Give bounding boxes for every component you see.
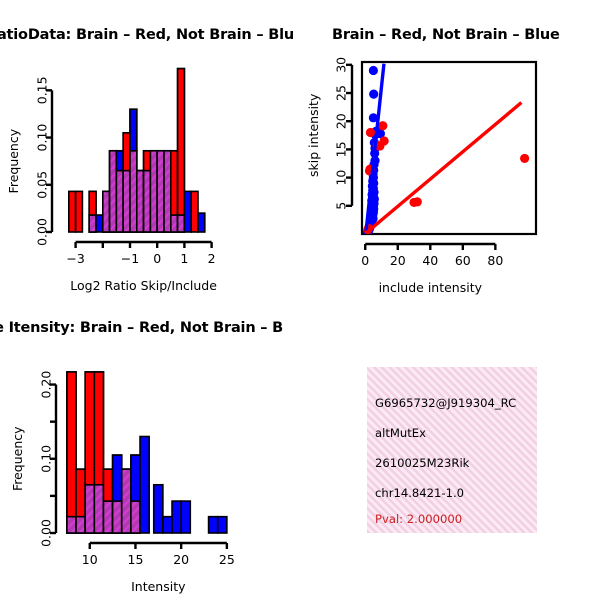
svg-text:−3: −3 xyxy=(66,251,84,266)
svg-text:10: 10 xyxy=(334,170,349,186)
scatter-title: Brain – Red, Not Brain – Blue xyxy=(332,27,560,43)
svg-text:0.15: 0.15 xyxy=(35,76,50,104)
hist-intensity-title: ne Itensity: Brain – Red, Not Brain – B xyxy=(0,320,283,336)
svg-text:40: 40 xyxy=(422,253,438,268)
hist-ratio-panel: 0.000.050.100.15−3−1012Log2 Ratio Skip/I… xyxy=(0,50,300,300)
svg-text:20: 20 xyxy=(334,113,349,129)
svg-text:0.00: 0.00 xyxy=(35,218,50,246)
svg-text:20: 20 xyxy=(173,552,189,567)
hist-intensity-panel: 0.000.100.2010152025IntensityFrequency xyxy=(0,348,300,600)
svg-text:0: 0 xyxy=(153,251,161,266)
svg-text:0.10: 0.10 xyxy=(39,445,54,473)
svg-text:0.00: 0.00 xyxy=(39,519,54,547)
svg-text:15: 15 xyxy=(334,141,349,157)
svg-text:2: 2 xyxy=(208,251,216,266)
info-line-locus: chr14.8421-1.0 xyxy=(375,486,464,500)
svg-text:30: 30 xyxy=(334,57,349,73)
svg-text:Frequency: Frequency xyxy=(6,128,21,193)
svg-text:−1: −1 xyxy=(121,251,139,266)
svg-text:20: 20 xyxy=(390,253,406,268)
svg-text:Log2 Ratio Skip/Include: Log2 Ratio Skip/Include xyxy=(70,278,217,293)
gene-info-box: G6965732@J919304_RC altMutEx 2610025M23R… xyxy=(367,367,537,533)
info-line-probe: G6965732@J919304_RC xyxy=(375,396,516,410)
svg-text:0.10: 0.10 xyxy=(35,124,50,152)
scatter-panel: 51015202530020406080include intensityski… xyxy=(300,50,600,300)
svg-text:80: 80 xyxy=(487,253,503,268)
info-line-gene: 2610025M23Rik xyxy=(375,456,469,470)
svg-text:5: 5 xyxy=(334,202,349,210)
svg-text:25: 25 xyxy=(219,552,235,567)
svg-text:Frequency: Frequency xyxy=(10,426,25,491)
info-line-event: altMutEx xyxy=(375,426,426,440)
svg-text:10: 10 xyxy=(82,552,98,567)
svg-text:60: 60 xyxy=(455,253,471,268)
svg-text:0.20: 0.20 xyxy=(39,371,54,399)
info-line-pval: Pval: 2.000000 xyxy=(375,512,462,526)
svg-text:0: 0 xyxy=(361,253,369,268)
svg-text:1: 1 xyxy=(180,251,188,266)
svg-text:25: 25 xyxy=(334,85,349,101)
svg-text:include intensity: include intensity xyxy=(379,280,483,295)
hist-ratio-title: RatioData: Brain – Red, Not Brain – Blu xyxy=(0,27,294,43)
svg-text:skip intensity: skip intensity xyxy=(306,93,321,177)
svg-text:Intensity: Intensity xyxy=(131,579,186,594)
svg-text:15: 15 xyxy=(128,552,144,567)
svg-text:0.05: 0.05 xyxy=(35,171,50,199)
